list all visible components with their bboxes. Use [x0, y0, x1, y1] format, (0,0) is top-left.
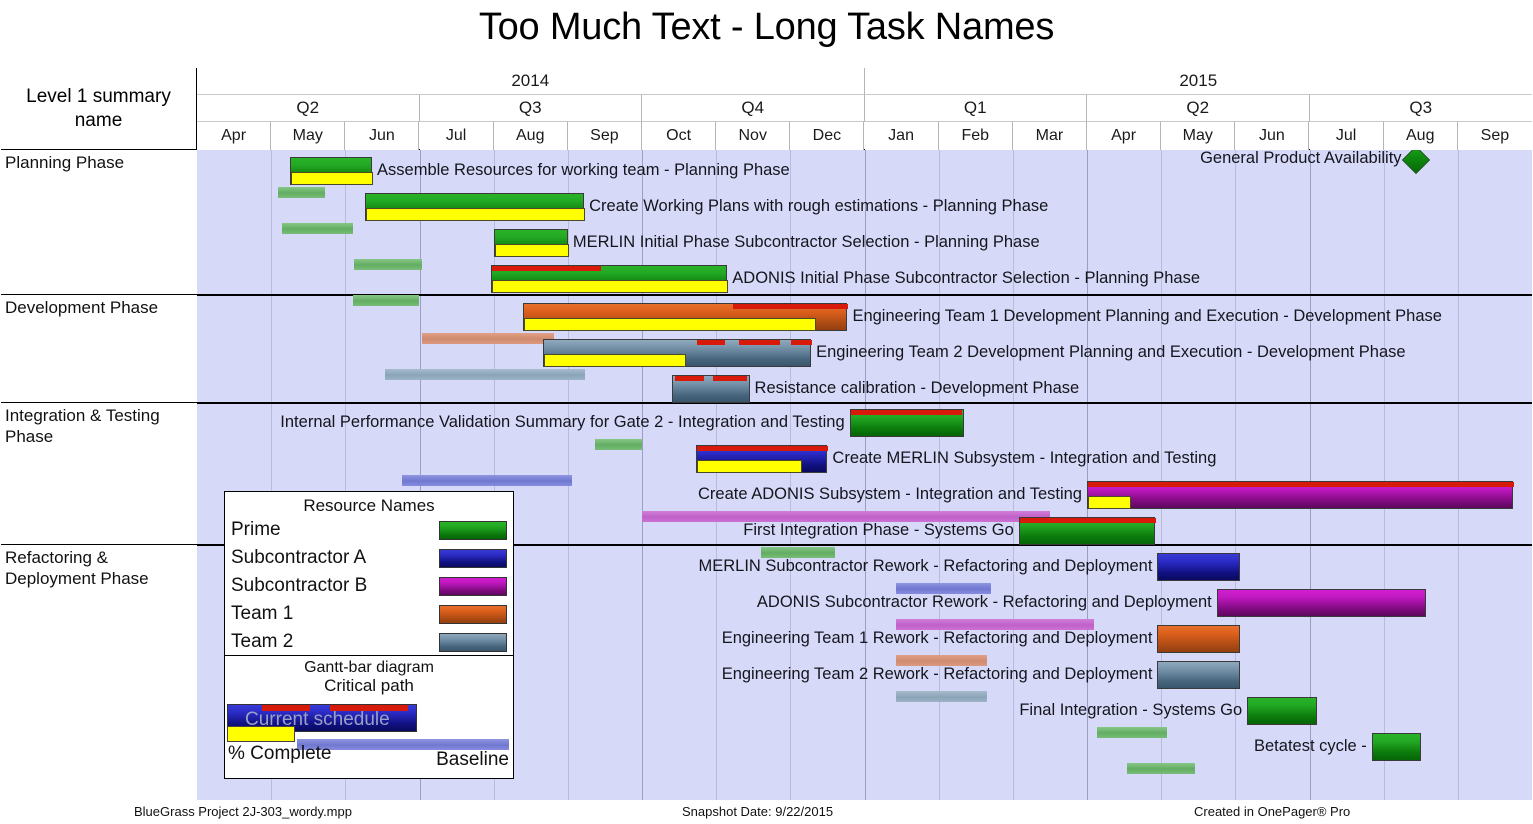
- quarter-header-0: Q2: [197, 95, 420, 122]
- legend-row-prime: Prime: [225, 517, 513, 544]
- percent-complete-bar: [492, 280, 729, 293]
- gantt-bar[interactable]: [494, 229, 568, 257]
- gantt-legend-canvas: Current schedule % Complete Baseline: [225, 697, 513, 767]
- task-label: ADONIS Initial Phase Subcontractor Selec…: [732, 270, 1200, 287]
- year-header-row: 20142015: [197, 68, 1532, 95]
- gantt-bar[interactable]: [1372, 733, 1421, 761]
- month-header-15: Jul: [1310, 122, 1384, 150]
- footer-credit: Created in OnePager® Pro: [1194, 804, 1350, 819]
- legend-swatch-prime: [439, 521, 507, 540]
- quarter-header-3: Q1: [865, 95, 1088, 122]
- legend-swatch-subcontractor_b: [439, 577, 507, 596]
- month-header-9: Jan: [865, 122, 939, 150]
- month-header-1: May: [271, 122, 345, 150]
- baseline-bar: [1127, 763, 1195, 774]
- percent-complete-bar: [291, 172, 373, 185]
- year-header-2015: 2015: [865, 68, 1533, 95]
- quarter-header-5: Q3: [1310, 95, 1533, 122]
- gantt-bar[interactable]: [1217, 589, 1426, 617]
- gantt-bar[interactable]: [696, 445, 827, 473]
- task-label: Engineering Team 2 Development Planning …: [816, 344, 1405, 361]
- legend-resource-name: Subcontractor A: [231, 547, 439, 569]
- task-label: Create Working Plans with rough estimati…: [589, 198, 1048, 215]
- gridline-16: [1384, 150, 1385, 800]
- task-label: Betatest cycle -: [1254, 738, 1367, 755]
- gantt-bar-legend: Gantt-bar diagram Critical path Current …: [225, 656, 513, 778]
- quarter-header-4: Q2: [1087, 95, 1310, 122]
- task-label: First Integration Phase - Systems Go: [743, 522, 1014, 539]
- baseline-bar: [402, 475, 573, 486]
- gantt-bar[interactable]: [1157, 553, 1239, 581]
- timeline-header: 20142015 Q2Q3Q4Q1Q2Q3 AprMayJunJulAugSep…: [197, 68, 1532, 150]
- month-header-2: Jun: [345, 122, 419, 150]
- task-label: Resistance calibration - Development Pha…: [755, 380, 1080, 397]
- gantt-bar[interactable]: [365, 193, 585, 221]
- month-header-4: Aug: [494, 122, 568, 150]
- critical-path-segment: [791, 340, 812, 345]
- gantt-bar[interactable]: [1157, 625, 1239, 653]
- task-label: Engineering Team 2 Rework - Refactoring …: [722, 666, 1153, 683]
- phase-label-column: Planning PhaseDevelopment PhaseIntegrati…: [1, 150, 197, 800]
- month-header-14: Jun: [1235, 122, 1309, 150]
- critical-path-segment: [697, 340, 724, 345]
- month-header-6: Oct: [642, 122, 716, 150]
- month-header-10: Feb: [939, 122, 1013, 150]
- percent-complete-label: % Complete: [228, 743, 332, 765]
- percent-complete-bar: [495, 244, 569, 257]
- baseline-bar: [896, 691, 986, 702]
- task-label: Engineering Team 1 Development Planning …: [852, 308, 1441, 325]
- month-header-17: Sep: [1458, 122, 1532, 150]
- legend-row-team_1: Team 1: [225, 601, 513, 628]
- month-header-16: Aug: [1384, 122, 1458, 150]
- task-label: Final Integration - Systems Go: [1019, 702, 1242, 719]
- gantt-legend-title: Gantt-bar diagram: [225, 656, 513, 677]
- baseline-bar: [278, 187, 325, 198]
- month-header-8: Dec: [790, 122, 864, 150]
- task-label: Create MERLIN Subsystem - Integration an…: [832, 450, 1216, 467]
- month-header-5: Sep: [568, 122, 642, 150]
- legend-row-subcontractor_b: Subcontractor B: [225, 573, 513, 600]
- gantt-bar[interactable]: [491, 265, 728, 293]
- gantt-bar[interactable]: [523, 303, 848, 331]
- legend-panel: Resource Names PrimeSubcontractor ASubco…: [224, 491, 514, 779]
- critical-path-segment: [1088, 482, 1514, 487]
- resource-legend-title: Resource Names: [225, 492, 513, 516]
- critical-path-segment: [1020, 518, 1156, 523]
- critical-path-segment: [697, 446, 828, 451]
- month-header-3: Jul: [420, 122, 494, 150]
- gridline-17: [1458, 150, 1459, 800]
- month-header-13: May: [1161, 122, 1235, 150]
- gantt-bar[interactable]: [290, 157, 372, 185]
- month-header-11: Mar: [1013, 122, 1087, 150]
- task-label: Internal Performance Validation Summary …: [280, 414, 844, 431]
- month-header-row: AprMayJunJulAugSepOctNovDecJanFebMarAprM…: [197, 122, 1532, 150]
- baseline-bar: [1097, 727, 1167, 738]
- percent-complete-bar: [697, 460, 802, 473]
- resource-legend: Resource Names PrimeSubcontractor ASubco…: [225, 492, 513, 656]
- gantt-bar[interactable]: [672, 375, 750, 403]
- percent-complete-bar: [544, 354, 686, 367]
- current-schedule-label: Current schedule: [245, 709, 390, 731]
- task-label: Create ADONIS Subsystem - Integration an…: [698, 486, 1082, 503]
- task-label: MERLIN Subcontractor Rework - Refactorin…: [699, 558, 1153, 575]
- baseline-bar: [282, 223, 352, 234]
- baseline-bar: [595, 439, 642, 450]
- corner-header: Level 1 summary name: [1, 68, 197, 150]
- quarter-header-1: Q3: [420, 95, 643, 122]
- task-label: General Product Availability: [1200, 150, 1401, 167]
- page-title: Too Much Text - Long Task Names: [0, 6, 1533, 49]
- critical-path-label: Critical path: [225, 677, 513, 695]
- phase-label-1: Development Phase: [1, 295, 197, 403]
- percent-complete-bar: [366, 208, 586, 221]
- gantt-chart-root: Too Much Text - Long Task Names Level 1 …: [0, 0, 1533, 824]
- critical-path-segment: [675, 376, 704, 381]
- month-header-12: Apr: [1087, 122, 1161, 150]
- task-label: Assemble Resources for working team - Pl…: [377, 162, 790, 179]
- month-header-0: Apr: [197, 122, 271, 150]
- baseline-bar: [385, 369, 585, 380]
- critical-path-segment: [733, 304, 848, 309]
- legend-resource-name: Subcontractor B: [231, 575, 439, 597]
- quarter-header-2: Q4: [642, 95, 865, 122]
- phase-label-2: Integration & Testing Phase: [1, 403, 197, 545]
- critical-path-segment: [739, 340, 780, 345]
- gantt-bar[interactable]: [543, 339, 811, 367]
- phase-label-3: Refactoring & Deployment Phase: [1, 545, 197, 800]
- critical-path-segment: [851, 410, 962, 415]
- percent-complete-bar: [524, 318, 816, 331]
- phase-separator-1: [197, 402, 1532, 404]
- task-label: MERLIN Initial Phase Subcontractor Selec…: [573, 234, 1040, 251]
- task-label: Engineering Team 1 Rework - Refactoring …: [722, 630, 1153, 647]
- critical-path-segment: [713, 376, 746, 381]
- gantt-bar[interactable]: [1019, 517, 1155, 545]
- phase-label-0: Planning Phase: [1, 150, 197, 295]
- gantt-bar[interactable]: [1247, 697, 1317, 725]
- legend-row-team_2: Team 2: [225, 629, 513, 656]
- gantt-bar[interactable]: [1157, 661, 1239, 689]
- baseline-bar: [354, 259, 421, 270]
- gantt-bar[interactable]: [850, 409, 964, 437]
- footer-file-name: BlueGrass Project 2J-303_wordy.mpp: [134, 804, 352, 819]
- gantt-bar[interactable]: [1087, 481, 1513, 509]
- month-header-7: Nov: [716, 122, 790, 150]
- legend-swatch-team_2: [439, 633, 507, 652]
- legend-resource-name: Team 1: [231, 603, 439, 625]
- year-header-2014: 2014: [197, 68, 865, 95]
- percent-complete-bar: [1088, 496, 1131, 509]
- legend-swatch-subcontractor_a: [439, 549, 507, 568]
- baseline-label: Baseline: [436, 749, 509, 771]
- legend-resource-name: Prime: [231, 519, 439, 541]
- footer-snapshot-date: Snapshot Date: 9/22/2015: [682, 804, 833, 819]
- footer: BlueGrass Project 2J-303_wordy.mpp Snaps…: [0, 804, 1533, 824]
- legend-row-subcontractor_a: Subcontractor A: [225, 545, 513, 572]
- critical-path-segment: [492, 266, 602, 271]
- milestone-marker: [1401, 150, 1429, 174]
- baseline-bar: [353, 295, 418, 306]
- task-label: ADONIS Subcontractor Rework - Refactorin…: [757, 594, 1212, 611]
- quarter-header-row: Q2Q3Q4Q1Q2Q3: [197, 95, 1532, 122]
- legend-resource-name: Team 2: [231, 631, 439, 653]
- legend-swatch-team_1: [439, 605, 507, 624]
- baseline-bar: [422, 333, 555, 344]
